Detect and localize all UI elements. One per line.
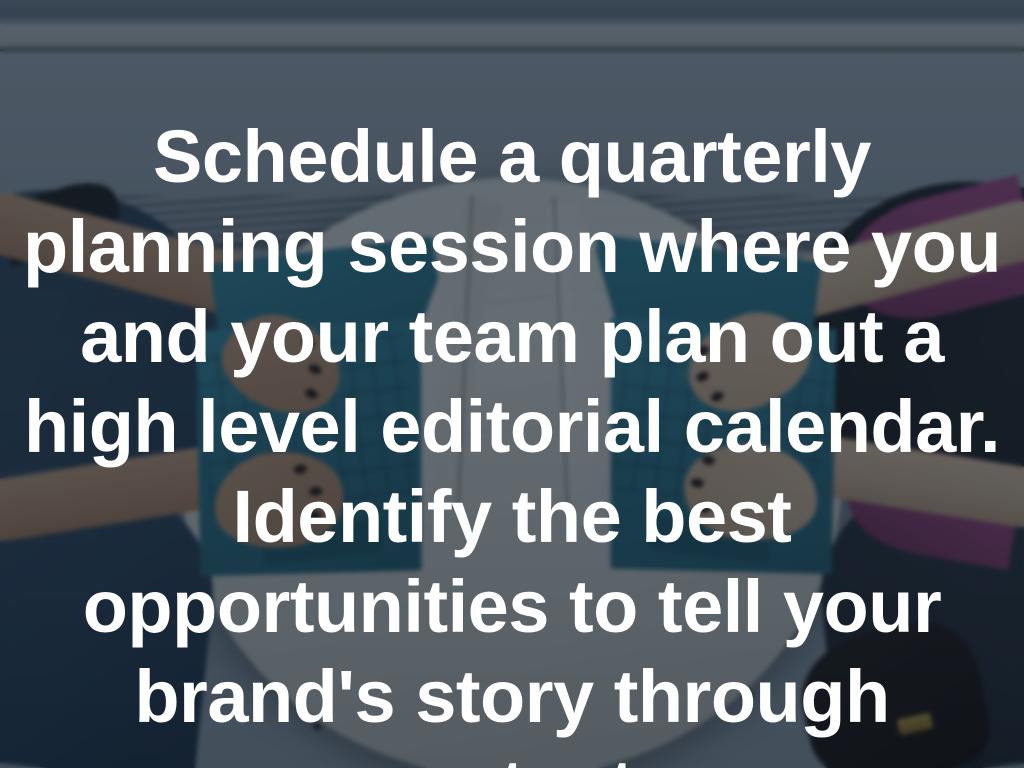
slide-quote-text: Schedule a quarterly planning session wh… bbox=[0, 112, 1024, 768]
presentation-slide: Schedule a quarterly planning session wh… bbox=[0, 0, 1024, 768]
